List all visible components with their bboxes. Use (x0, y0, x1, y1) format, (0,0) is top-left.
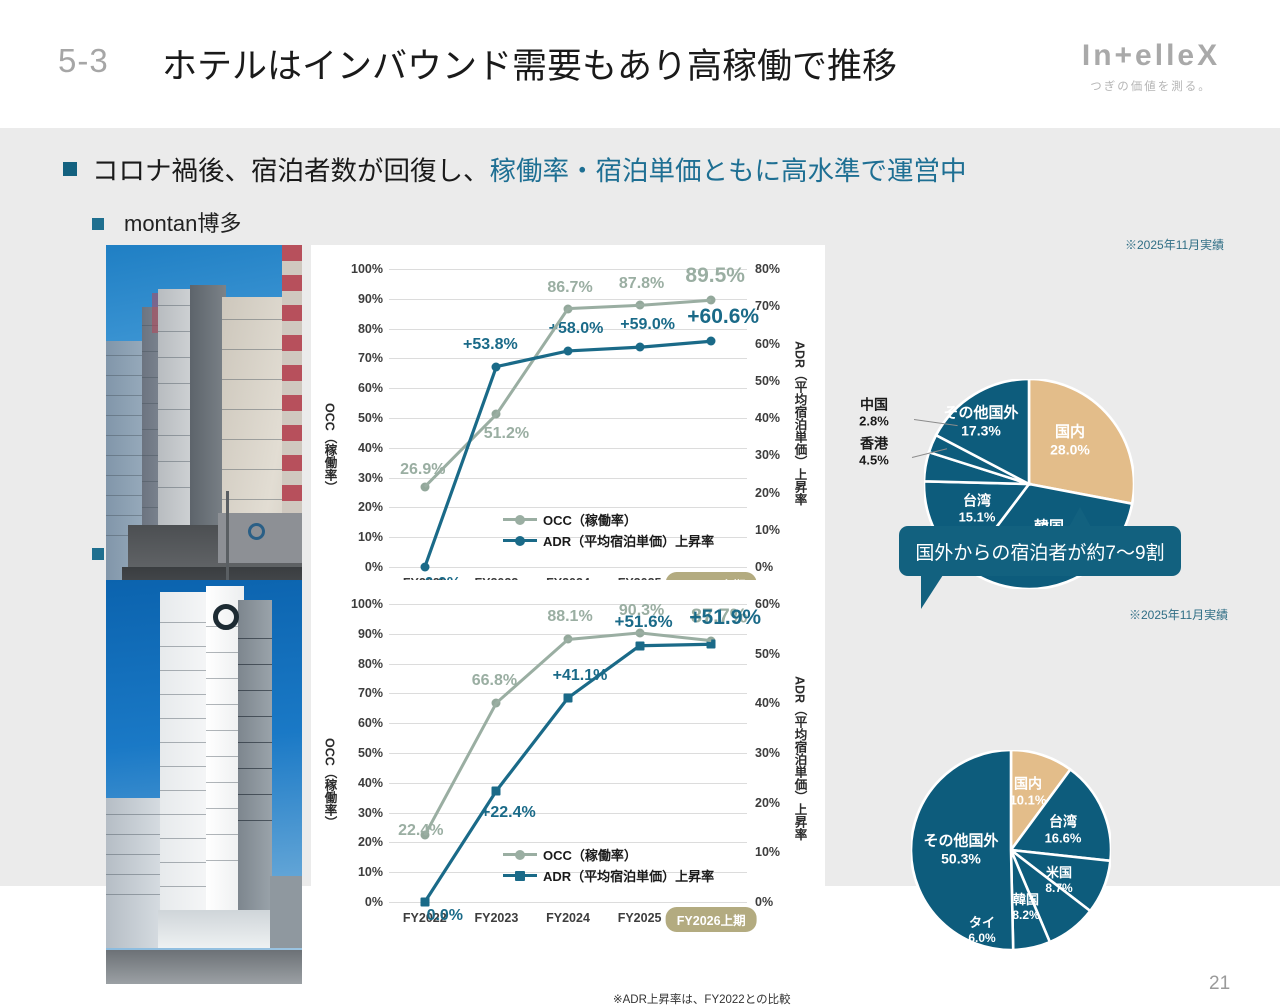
y-axis-tick: 10% (358, 865, 383, 879)
x-axis-category: FY2026上期 (666, 907, 757, 932)
pie-label-value: 2.8% (859, 414, 889, 430)
pie-label-name: 台湾 (1045, 814, 1082, 831)
pie-label-value: 6.0% (968, 931, 995, 946)
legend-swatch (503, 539, 537, 542)
chart-landabout-tokyo-occ-adr: 0%10%20%30%40%50%60%70%80%90%100%0%10%20… (311, 580, 825, 984)
legend-item: ADR（平均宿泊単価）上昇率 (503, 865, 714, 886)
brand-logo: In+elleX つぎの価値を測る。 (1051, 40, 1251, 94)
logo-tagline: つぎの価値を測る。 (1051, 78, 1251, 94)
square-bullet-icon (63, 162, 77, 176)
callout-bubble: 国外からの宿泊者が約7〜9割 (899, 526, 1181, 576)
hotel-tower-right-face (238, 600, 272, 944)
pie-slice-label: 韓国8.2% (1012, 892, 1039, 922)
pie-label-name: 米国 (1045, 865, 1072, 881)
callout-tail-down (921, 575, 943, 609)
y2-axis-tick: 10% (755, 523, 780, 537)
y-axis-tick: 40% (358, 441, 383, 455)
y-axis-tick: 90% (358, 292, 383, 306)
y-axis-tick: 100% (351, 262, 383, 276)
y2-axis-tick: 20% (755, 796, 780, 810)
pie-label-name: その他国外 (923, 832, 998, 850)
legend-label: OCC（稼働率） (543, 510, 637, 529)
y2-axis-tick: 60% (755, 337, 780, 351)
y-axis-title-occ: OCC（稼働率） (323, 708, 336, 858)
pie-label-value: 17.3% (943, 423, 1018, 440)
y-axis-tick: 20% (358, 835, 383, 849)
legend-label: ADR（平均宿泊単価）上昇率 (543, 531, 714, 550)
legend-swatch (503, 853, 537, 856)
y-axis-tick: 40% (358, 776, 383, 790)
pie-label-value: 16.6% (1045, 831, 1082, 847)
pie-slice-label: 台湾15.1% (959, 493, 996, 526)
pie-slice-label: その他国外17.3% (943, 404, 1018, 439)
x-axis-category: FY2023 (475, 911, 519, 925)
y2-axis-tick: 30% (755, 746, 780, 760)
slide-body: コロナ禍後、宿泊者数が回復し、稼働率・宿泊単価ともに高水準で運営中 montan… (0, 128, 1280, 886)
page-number: 21 (1209, 973, 1230, 995)
pie-label-value: 28.0% (1050, 442, 1090, 459)
y-axis-tick: 70% (358, 351, 383, 365)
pie-label-name: その他国外 (943, 404, 1018, 422)
gridline (389, 902, 747, 903)
y2-axis-tick: 50% (755, 647, 780, 661)
square-bullet-icon (92, 218, 104, 230)
hotel-name-montan-hakata: montan博多 (124, 206, 241, 238)
y2-axis-title-adr: ADR（平均宿泊単価）上昇率 (793, 273, 806, 573)
legend-swatch (503, 518, 537, 521)
callout-tail-up (1069, 507, 1091, 527)
y2-axis-tick: 10% (755, 845, 780, 859)
pie-label-name: 香港 (859, 436, 889, 453)
y-axis-tick: 50% (358, 746, 383, 760)
building-left-neighbor (106, 798, 162, 948)
pie-slice-label: 国内10.1% (1010, 776, 1047, 809)
legend-item: OCC（稼働率） (503, 509, 714, 530)
y-axis-tick: 100% (351, 597, 383, 611)
pie-slice-label: その他国外50.3% (923, 832, 998, 867)
page-title: ホテルはインバウンド需要もあり高稼働で推移 (162, 38, 897, 89)
y-axis-tick: 0% (365, 895, 383, 909)
legend-swatch (503, 874, 537, 877)
pie-note-montan: ※2025年11月実績 (1125, 236, 1224, 253)
pie-chart-landabout-nationality: 国内10.1%台湾16.6%米国8.7%韓国8.2%タイ6.0%その他国外50.… (911, 750, 1111, 950)
pie-label-name: 台湾 (959, 493, 996, 510)
legend-item: OCC（稼働率） (503, 844, 714, 865)
y-axis-tick: 60% (358, 716, 383, 730)
y-axis-tick: 80% (358, 657, 383, 671)
pie-slice-label: 台湾16.6% (1045, 814, 1082, 847)
y-axis-title-occ: OCC（稼働率） (323, 373, 336, 523)
pie-slice-label: 中国2.8% (859, 397, 889, 430)
pie-label-value: 8.2% (1012, 908, 1039, 923)
legend-label: ADR（平均宿泊単価）上昇率 (543, 866, 714, 885)
subtitle-accent: 稼働率・宿泊単価ともに高水準で運営中 (490, 156, 967, 186)
data-label: 0.0% (427, 907, 463, 925)
slide-header: 5-3 ホテルはインバウンド需要もあり高稼働で推移 In+elleX つぎの価値… (0, 0, 1280, 128)
hotel-tower-left-face (160, 592, 212, 948)
logo-wordmark: In+elleX (1051, 40, 1251, 72)
legend-label: OCC（稼働率） (543, 845, 637, 864)
y-axis-tick: 0% (365, 560, 383, 574)
pie-label-name: 韓国 (1012, 892, 1039, 908)
slide-section-number: 5-3 (58, 42, 109, 80)
pie-slice-label: 国内28.0% (1050, 423, 1090, 458)
pie-label-value: 10.1% (1010, 793, 1047, 809)
chart-legend: OCC（稼働率）ADR（平均宿泊単価）上昇率 (503, 844, 714, 886)
pie-label-value: 4.5% (859, 453, 889, 469)
y-axis-tick: 70% (358, 686, 383, 700)
street-pavement (106, 950, 302, 984)
y2-axis-tick: 20% (755, 486, 780, 500)
chart-legend: OCC（稼働率）ADR（平均宿泊単価）上昇率 (503, 509, 714, 551)
y-axis-tick: 30% (358, 806, 383, 820)
y-axis-tick: 80% (358, 322, 383, 336)
pie-note-landabout: ※2025年11月実績 (1129, 606, 1228, 623)
legend-item: ADR（平均宿泊単価）上昇率 (503, 530, 714, 551)
pie-label-name: 国内 (1010, 776, 1047, 793)
y2-axis-tick: 0% (755, 560, 773, 574)
y2-axis-tick: 80% (755, 262, 780, 276)
callout-text: 国外からの宿泊者が約7〜9割 (899, 526, 1181, 576)
y-axis-tick: 30% (358, 471, 383, 485)
y2-axis-tick: 40% (755, 696, 780, 710)
y2-axis-tick: 0% (755, 895, 773, 909)
pie-label-name: 国内 (1050, 423, 1090, 441)
pie-label-name: タイ (968, 915, 995, 931)
hotel-photo-landabout-tokyo (106, 580, 302, 984)
hotel-logo-icon (213, 604, 239, 630)
subtitle: コロナ禍後、宿泊者数が回復し、稼働率・宿泊単価ともに高水準で運営中 (92, 149, 967, 188)
chart-footnote: ※ADR上昇率は、FY2022との比較 (613, 991, 791, 1007)
y-axis-tick: 10% (358, 530, 383, 544)
pie-slice-label: 香港4.5% (859, 436, 889, 469)
pie-label-name: 中国 (859, 397, 889, 414)
pie-slice-label: 米国8.7% (1045, 865, 1072, 895)
y2-axis-tick: 30% (755, 448, 780, 462)
x-axis-category: FY2024 (546, 911, 590, 925)
subtitle-plain: コロナ禍後、宿泊者数が回復し、 (92, 156, 490, 186)
x-axis-category: FY2025 (618, 911, 662, 925)
hotel-logo-icon (248, 523, 265, 540)
pie-label-value: 8.7% (1045, 881, 1072, 896)
square-bullet-icon (92, 548, 104, 560)
gridline (389, 567, 747, 568)
y-axis-tick: 60% (358, 381, 383, 395)
pie-label-value: 50.3% (923, 851, 998, 868)
y-axis-tick: 90% (358, 627, 383, 641)
pie-slice-label: タイ6.0% (968, 915, 995, 945)
y-axis-tick: 50% (358, 411, 383, 425)
neighbor-right (270, 876, 302, 948)
y2-axis-title-adr: ADR（平均宿泊単価）上昇率 (793, 608, 806, 908)
y2-axis-tick: 40% (755, 411, 780, 425)
y2-axis-tick: 50% (755, 374, 780, 388)
pie-label-value: 15.1% (959, 510, 996, 526)
y-axis-tick: 20% (358, 500, 383, 514)
